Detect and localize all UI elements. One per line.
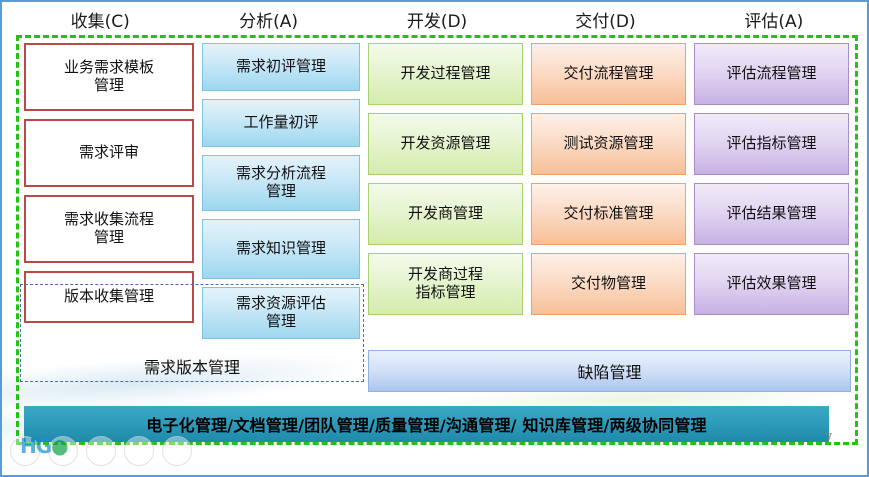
card-deliver-2[interactable]: 交付标准管理 — [531, 183, 686, 245]
card-collect-2[interactable]: 需求收集流程 管理 — [24, 195, 194, 263]
column-dev: 开发过程管理 开发资源管理 开发商管理 开发商过程 指标管理 — [368, 43, 523, 397]
card-deliver-1[interactable]: 测试资源管理 — [531, 113, 686, 175]
card-dev-3[interactable]: 开发商过程 指标管理 — [368, 253, 523, 315]
card-assess-3[interactable]: 评估效果管理 — [694, 253, 849, 315]
version-group-label: 需求版本管理 — [21, 354, 363, 378]
card-analyze-1[interactable]: 工作量初评 — [202, 99, 360, 147]
column-header-row: 收集(C) 分析(A) 开发(D) 交付(D) 评估(A) — [16, 8, 858, 36]
card-assess-1[interactable]: 评估指标管理 — [694, 113, 849, 175]
card-collect-0[interactable]: 业务需求模板 管理 — [24, 43, 194, 111]
card-assess-2[interactable]: 评估结果管理 — [694, 183, 849, 245]
card-deliver-3[interactable]: 交付物管理 — [531, 253, 686, 315]
version-group-box: 需求版本管理 — [20, 284, 364, 382]
slide-number: 7 — [823, 430, 833, 448]
column-assess: 评估流程管理 评估指标管理 评估结果管理 评估效果管理 — [694, 43, 849, 397]
column-header-collect: 收集(C) — [16, 8, 184, 36]
footer-banner: 电子化管理/文档管理/团队管理/质量管理/沟通管理/ 知识库管理/两级协同管理 — [24, 406, 829, 442]
column-header-dev: 开发(D) — [353, 8, 521, 36]
column-header-analyze: 分析(A) — [184, 8, 352, 36]
column-deliver: 交付流程管理 测试资源管理 交付标准管理 交付物管理 — [531, 43, 686, 397]
column-header-deliver: 交付(D) — [521, 8, 689, 36]
card-assess-0[interactable]: 评估流程管理 — [694, 43, 849, 105]
card-analyze-3[interactable]: 需求知识管理 — [202, 219, 360, 279]
card-dev-0[interactable]: 开发过程管理 — [368, 43, 523, 105]
card-collect-1[interactable]: 需求评审 — [24, 119, 194, 187]
card-dev-2[interactable]: 开发商管理 — [368, 183, 523, 245]
slide-canvas: 收集(C) 分析(A) 开发(D) 交付(D) 评估(A) 业务需求模板 管理 … — [0, 0, 869, 477]
card-defect-management[interactable]: 缺陷管理 — [368, 350, 851, 392]
column-header-assess: 评估(A) — [690, 8, 858, 36]
card-analyze-0[interactable]: 需求初评管理 — [202, 43, 360, 91]
card-analyze-2[interactable]: 需求分析流程 管理 — [202, 155, 360, 211]
card-dev-1[interactable]: 开发资源管理 — [368, 113, 523, 175]
card-deliver-0[interactable]: 交付流程管理 — [531, 43, 686, 105]
